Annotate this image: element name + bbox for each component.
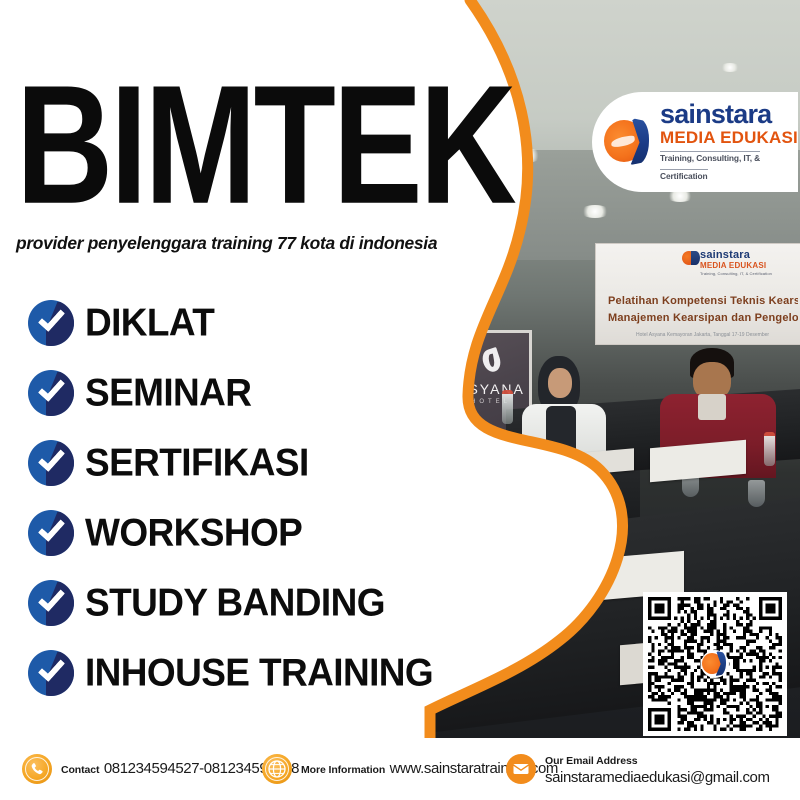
participant-collar (698, 394, 726, 420)
services-checklist: DIKLAT SEMINAR SERTIFIKASI WORKSHOP STUD… (28, 288, 548, 708)
check-circle-icon (28, 650, 74, 696)
footer-email-label: Our Email Address (545, 755, 637, 767)
check-circle-icon (28, 440, 74, 486)
brand-name: sainstara (660, 99, 771, 129)
contact-footer: Contact 081234594527-081234594528 More I… (0, 738, 800, 800)
poster-root: sainstara MEDIA EDUKASI Training, Consul… (0, 0, 800, 800)
banner-line-2: Manajemen Kearsipan dan Pengelolaan (608, 312, 798, 324)
service-label: SEMINAR (85, 371, 251, 416)
banner-brand-sub: MEDIA EDUKASI (700, 261, 766, 270)
qr-center-logo-icon (701, 650, 729, 678)
phone-icon (22, 754, 52, 784)
drinking-glass (748, 480, 765, 507)
banner-line-1: Pelatihan Kompetensi Teknis Kearsipan (608, 295, 798, 307)
footer-contact[interactable]: Contact 081234594527-081234594528 (22, 754, 299, 784)
check-circle-icon (28, 580, 74, 626)
banner-logo-mark (682, 251, 696, 265)
qr-code[interactable] (648, 597, 782, 731)
footer-email[interactable]: Our Email Address sainstaramediaedukasi@… (506, 751, 800, 788)
qr-code-panel[interactable] (643, 592, 787, 736)
brand-services: Training, Consulting, IT, & Certificatio… (660, 151, 760, 181)
participant-face (548, 368, 572, 398)
ceiling-light (580, 205, 610, 218)
globe-icon (262, 754, 292, 784)
service-item-study-banding[interactable]: STUDY BANDING (28, 568, 548, 638)
tagline: provider penyelenggara training 77 kota … (16, 233, 437, 254)
check-circle-icon (28, 370, 74, 416)
footer-contact-label: Contact (61, 764, 99, 776)
brand-subtitle: MEDIA EDUKASI (660, 128, 798, 147)
banner-brand: sainstara (700, 249, 750, 261)
banner-brand-services: Training, Consulting, IT, & Certificatio… (700, 271, 772, 276)
check-circle-icon (28, 510, 74, 556)
footer-website-label: More Information (301, 764, 385, 776)
service-item-inhouse-training[interactable]: INHOUSE TRAINING (28, 638, 548, 708)
ceiling-light (720, 63, 740, 72)
service-label: WORKSHOP (85, 511, 302, 556)
footer-email-value: sainstaramediaedukasi@gmail.com (545, 769, 770, 786)
service-item-diklat[interactable]: DIKLAT (28, 288, 548, 358)
envelope-icon (506, 754, 536, 784)
check-circle-icon (28, 300, 74, 346)
service-item-sertifikasi[interactable]: SERTIFIKASI (28, 428, 548, 498)
brand-logo-badge[interactable]: sainstara MEDIA EDUKASI Training, Consul… (592, 92, 798, 192)
service-item-seminar[interactable]: SEMINAR (28, 358, 548, 428)
water-bottle (764, 432, 775, 466)
banner-venue: Hotel Asyana Kemayoran Jakarta, Tanggal … (636, 332, 769, 338)
page-title: BIMTEK (16, 62, 514, 228)
sainstara-flame-icon (604, 118, 652, 166)
service-label: STUDY BANDING (85, 581, 385, 626)
service-label: INHOUSE TRAINING (85, 651, 433, 696)
event-banner: sainstara MEDIA EDUKASI Training, Consul… (595, 243, 800, 345)
service-label: DIKLAT (85, 301, 214, 346)
service-item-workshop[interactable]: WORKSHOP (28, 498, 548, 568)
brand-logo-text: sainstara MEDIA EDUKASI Training, Consul… (660, 101, 798, 184)
service-label: SERTIFIKASI (85, 441, 309, 486)
